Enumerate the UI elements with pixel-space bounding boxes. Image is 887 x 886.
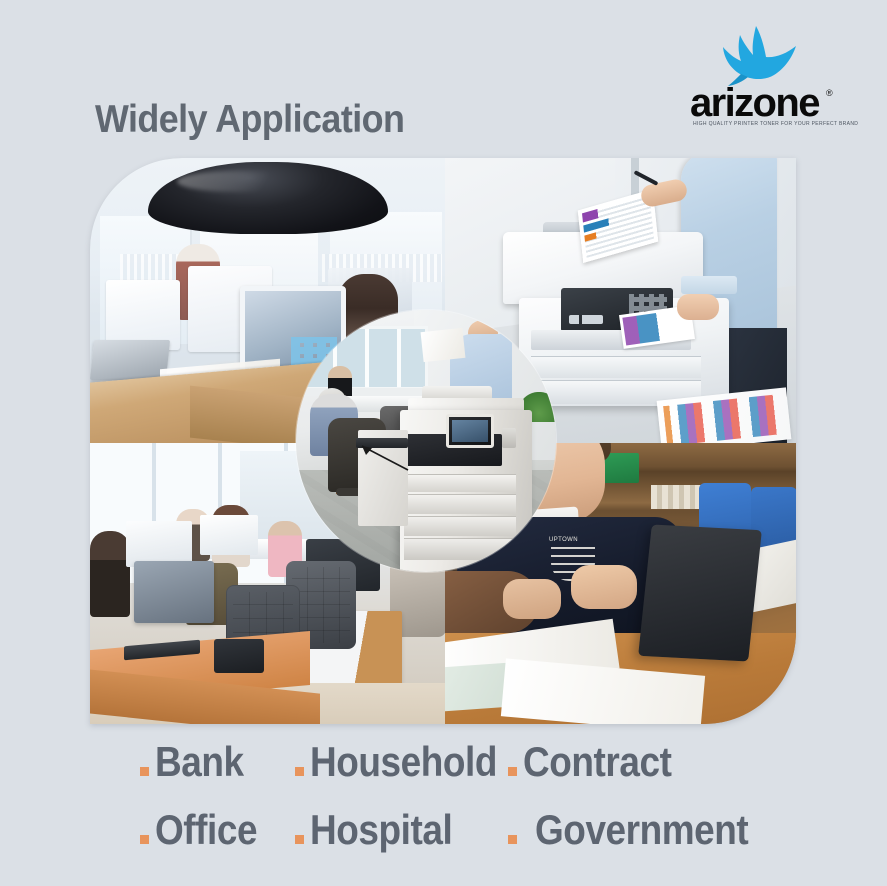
image-collage: UPTOWN Canon	[90, 158, 796, 724]
application-item-bank[interactable]: Bank	[140, 728, 295, 796]
application-row: Bank Household Contract	[140, 728, 800, 796]
monitor	[200, 515, 258, 555]
bullet-square-icon	[295, 767, 304, 776]
printer-paper-drawer	[531, 356, 701, 378]
bullet-square-icon	[140, 767, 149, 776]
copier-paper-tray	[404, 494, 516, 514]
application-label: Bank	[155, 728, 244, 796]
application-label: Government	[535, 796, 748, 864]
bullet-square-icon	[140, 835, 149, 844]
photo-copier-room-circle: Canon	[296, 310, 556, 572]
application-item-office[interactable]: Office	[140, 796, 295, 864]
desk-phone	[214, 639, 264, 673]
application-item-household[interactable]: Household	[295, 728, 508, 796]
brand-tagline: HIGH QUALITY PRINTER TONER FOR YOUR PERF…	[693, 121, 840, 127]
tablet-device	[638, 524, 762, 661]
bullet-square-icon	[508, 767, 517, 776]
monitor	[134, 561, 214, 623]
flying-bird-icon	[712, 24, 798, 88]
copier-side-button	[502, 428, 516, 448]
pointer-arrow-icon	[352, 442, 410, 472]
window	[302, 326, 428, 390]
hand	[503, 579, 561, 619]
header: Widely Application arizone ® HIGH QUALIT…	[0, 0, 887, 160]
copier-paper-tray	[404, 538, 516, 560]
bullet-square-icon	[295, 835, 304, 844]
pendant-lamp	[148, 162, 388, 234]
shirt-cuff	[681, 276, 737, 294]
hand	[571, 565, 637, 609]
page-title: Widely Application	[95, 98, 404, 142]
bullet-square-icon	[508, 835, 517, 844]
papers	[421, 328, 466, 362]
application-label: Hospital	[310, 796, 452, 864]
brand-wordmark: arizone	[690, 86, 840, 120]
application-item-government[interactable]: Government	[508, 796, 777, 864]
copier-touchscreen	[446, 414, 494, 448]
copier-paper-tray	[404, 474, 516, 492]
application-item-hospital[interactable]: Hospital	[295, 796, 508, 864]
application-item-contract[interactable]: Contract	[508, 728, 692, 796]
application-label: Office	[155, 796, 257, 864]
person	[90, 531, 130, 617]
registered-mark: ®	[826, 88, 833, 98]
hand	[677, 294, 719, 320]
application-list: Bank Household Contract Office Hospital …	[140, 728, 800, 864]
brand-logo: arizone ® HIGH QUALITY PRINTER TONER FOR…	[690, 24, 840, 134]
application-label: Contract	[523, 728, 671, 796]
copier-paper-tray	[404, 516, 516, 536]
application-row: Office Hospital Government	[140, 796, 800, 864]
application-label: Household	[310, 728, 497, 796]
laptop	[90, 340, 170, 380]
